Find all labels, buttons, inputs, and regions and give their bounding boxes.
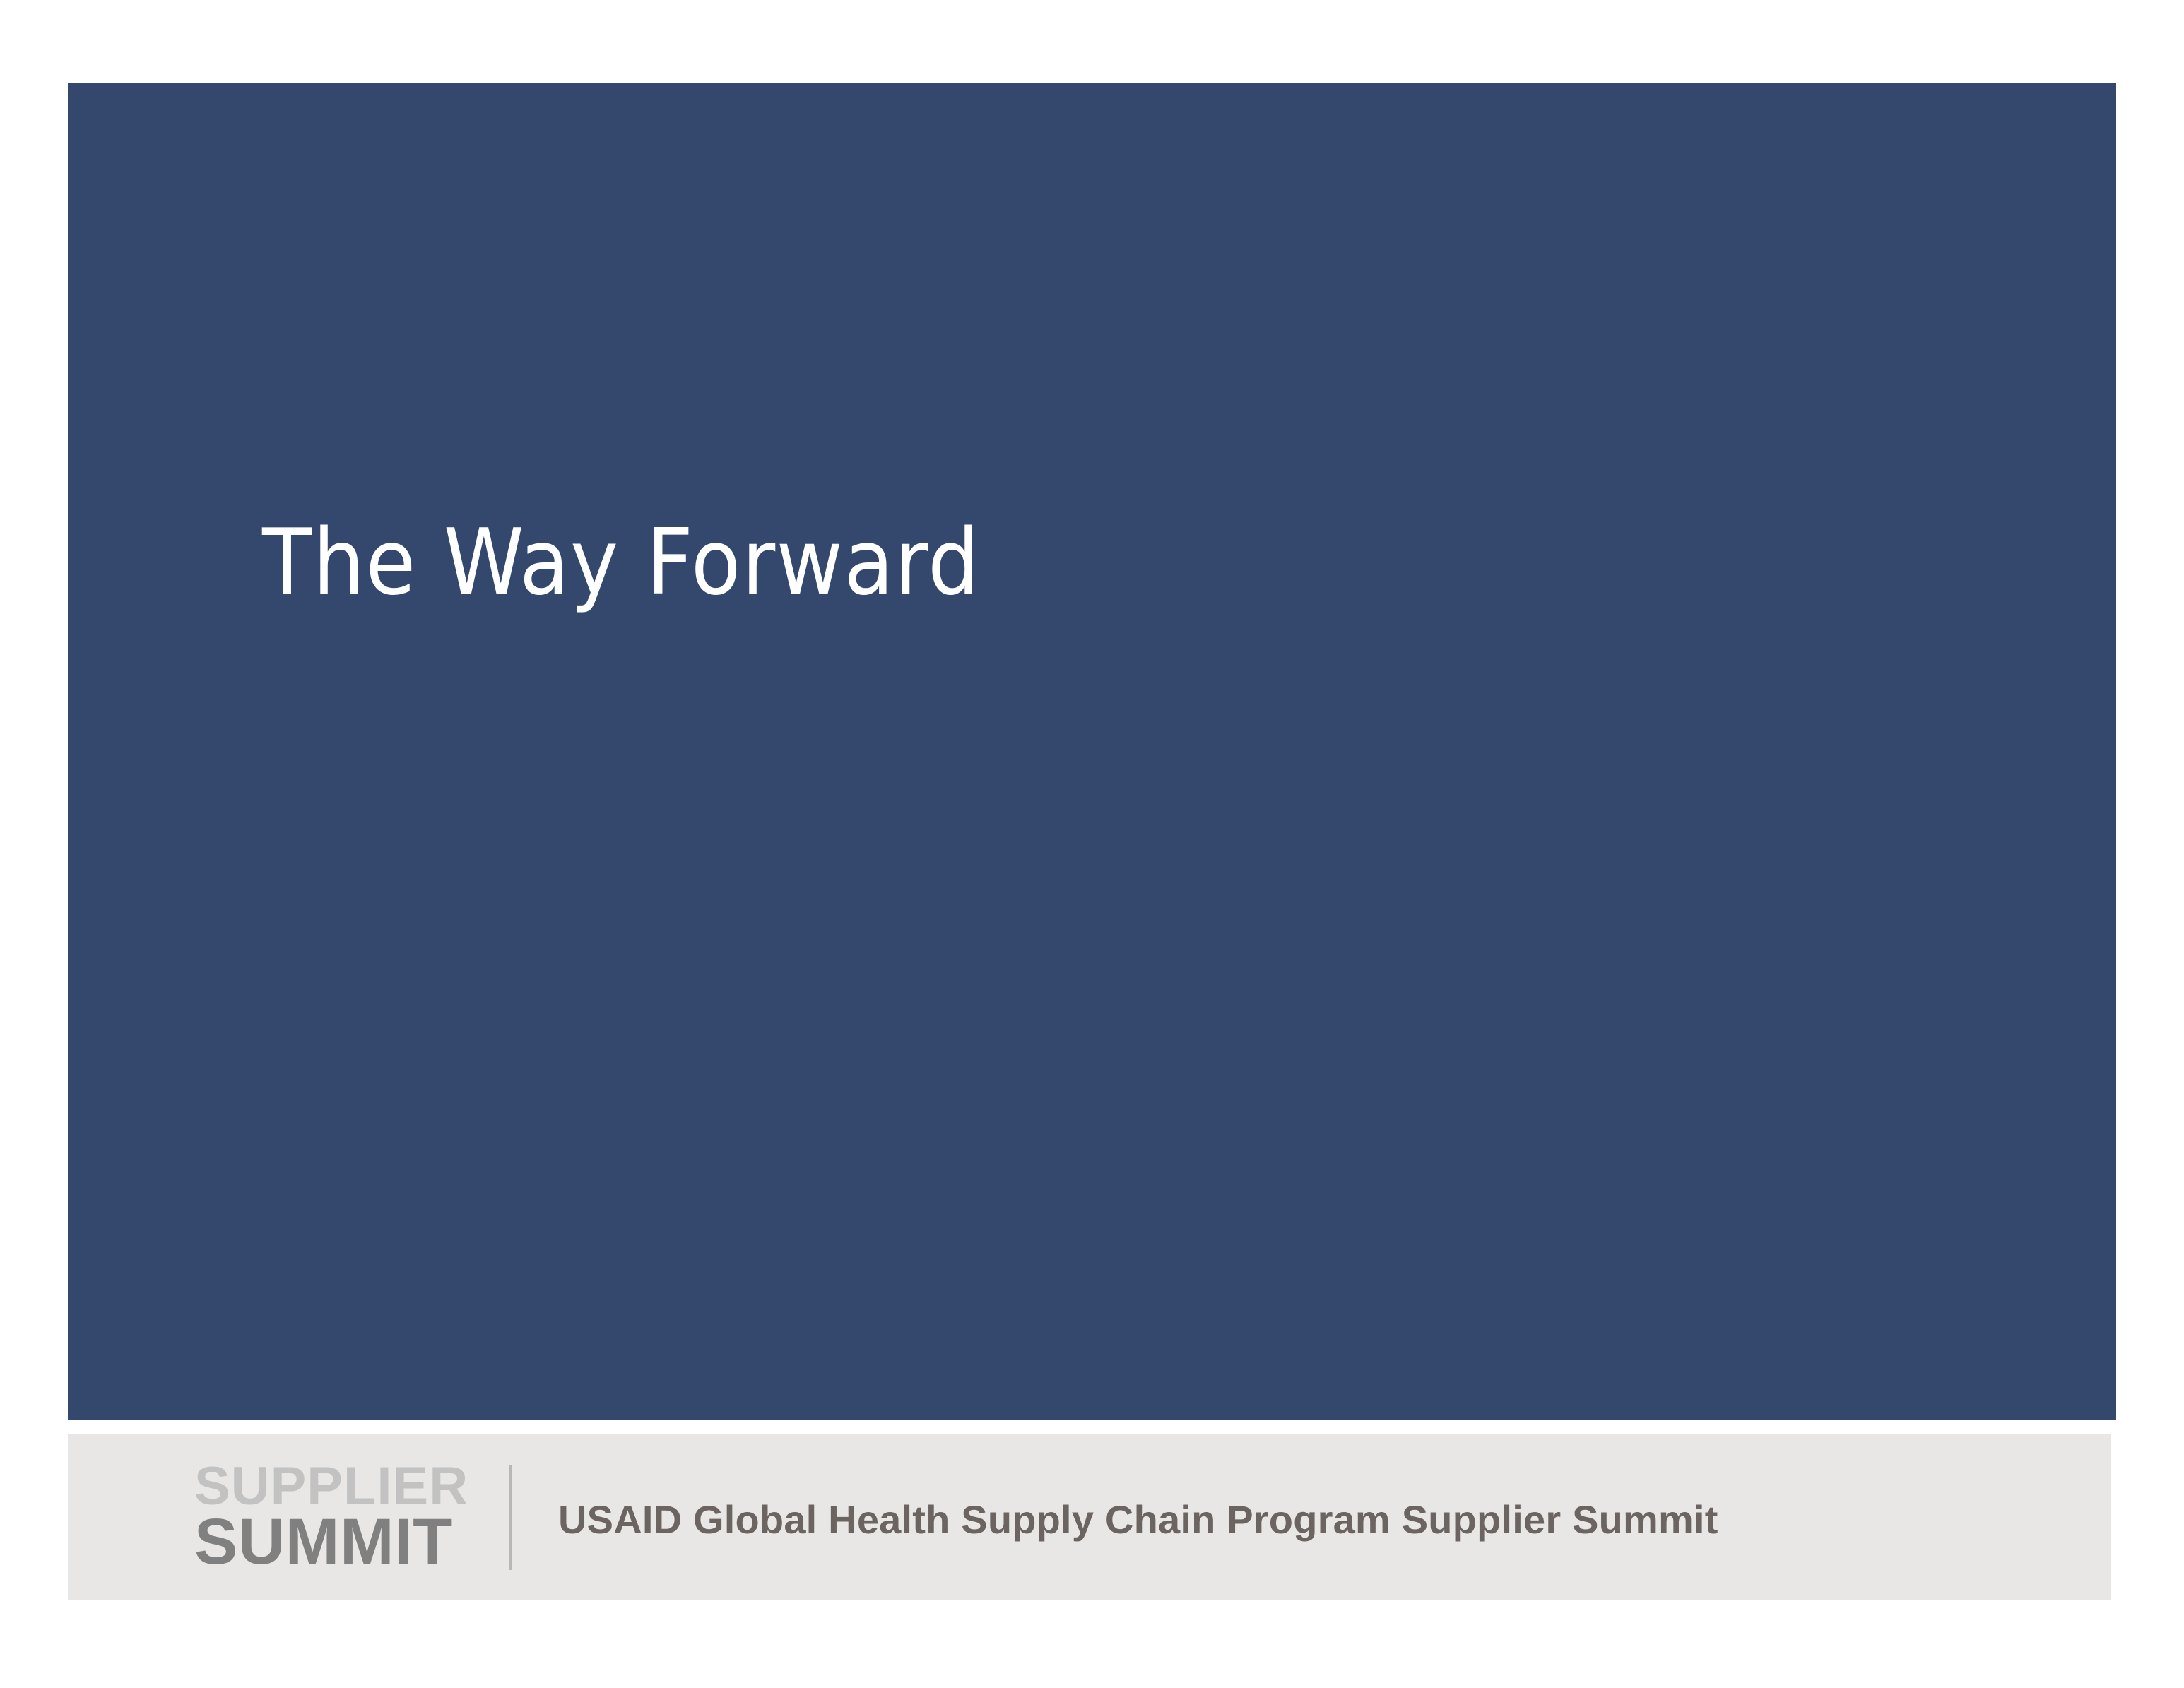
slide-footer: SUPPLIER SUMMIT USAID Global Health Supp…	[68, 1434, 2111, 1600]
logo-line-supplier: SUPPLIER	[194, 1462, 526, 1511]
slide-content-panel: The Way Forward	[68, 83, 2116, 1420]
supplier-summit-logo: SUPPLIER SUMMIT	[194, 1462, 526, 1572]
page-title: The Way Forward	[262, 516, 981, 610]
footer-divider	[509, 1465, 512, 1570]
footer-caption: USAID Global Health Supply Chain Program…	[558, 1498, 1718, 1542]
logo-line-summit: SUMMIT	[194, 1511, 526, 1572]
presentation-slide: The Way Forward SUPPLIER SUMMIT USAID Gl…	[0, 0, 2184, 1688]
